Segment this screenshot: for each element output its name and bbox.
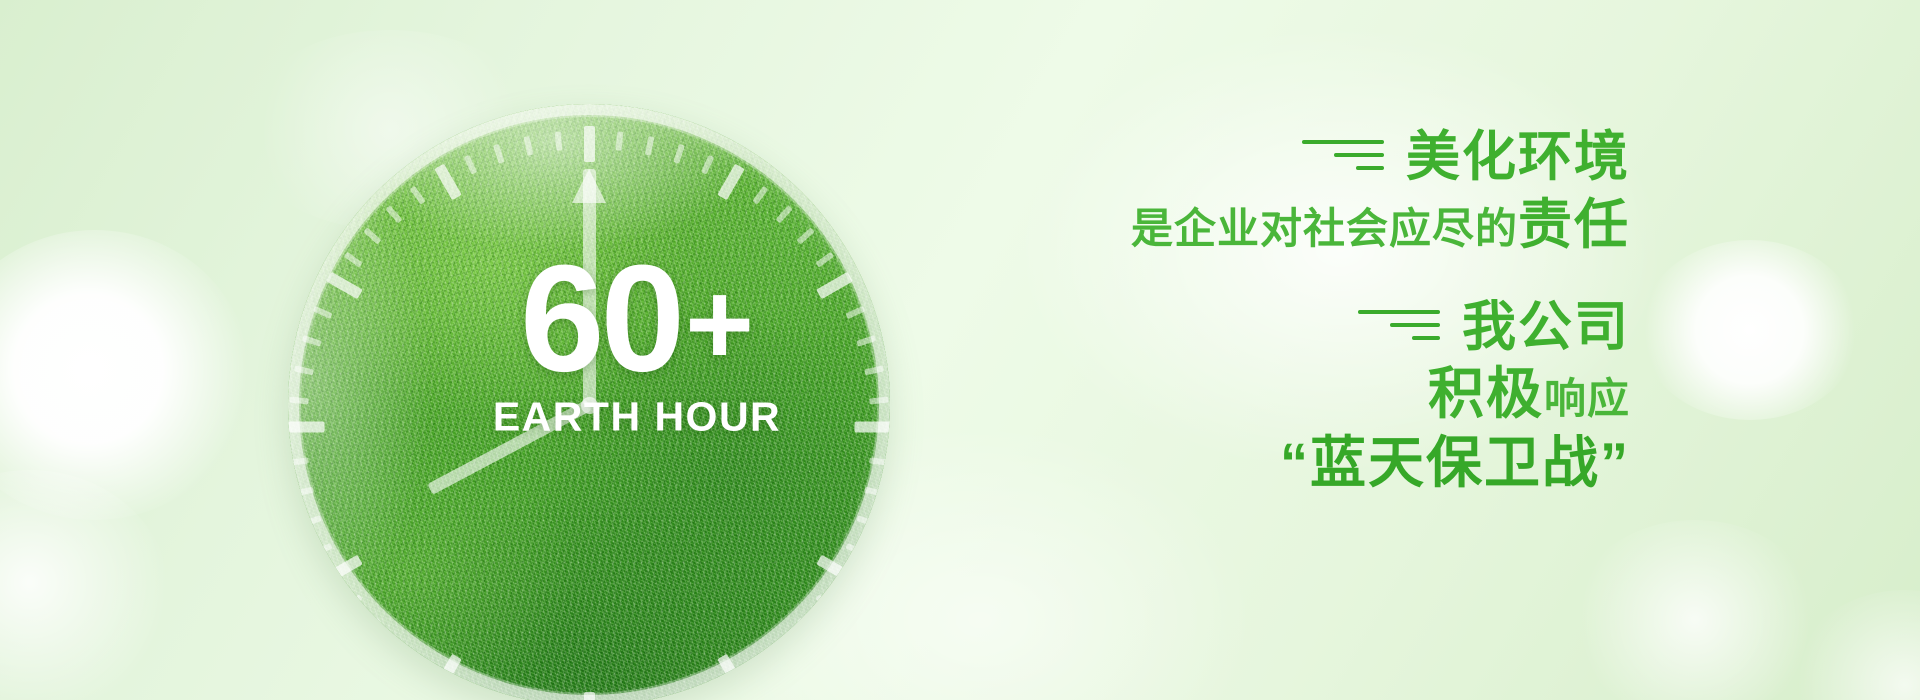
clock-center-cap xyxy=(581,397,598,414)
clock-tick-minor xyxy=(856,335,876,347)
clock-tick-minor xyxy=(294,365,314,375)
bokeh-light-right-lower xyxy=(1570,520,1820,700)
clock-tick-minor xyxy=(752,657,768,676)
clock-tick-major xyxy=(288,422,324,433)
clock-tick-minor xyxy=(615,131,623,151)
subline-emphasis-text: 责任 xyxy=(1518,195,1630,255)
clock-tick-minor xyxy=(797,617,815,634)
clock-tick-minor xyxy=(752,186,768,205)
subline-corporate-responsibility: 是企业对社会应尽的责任 xyxy=(1020,194,1630,256)
clock-tick-major xyxy=(434,654,462,691)
midline-emphasis-text: 积极 xyxy=(1428,362,1544,425)
clock-tick-minor xyxy=(313,306,333,319)
clock-tick-minor xyxy=(344,252,363,268)
dash-decoration-icon-2 xyxy=(1358,310,1440,344)
clock-tick-minor xyxy=(385,639,402,657)
clock-tick-major xyxy=(434,164,462,201)
clock-tick-minor xyxy=(523,136,533,156)
clock-tick-minor xyxy=(302,335,322,347)
clock-tick-minor xyxy=(410,186,426,205)
copy-block-blue-sky: 我公司 积极响应 “蓝天保卫战” xyxy=(1020,300,1630,495)
clock-tick-major xyxy=(816,272,853,300)
clock-tick-minor xyxy=(869,457,889,465)
bokeh-light-left xyxy=(0,230,250,520)
clock-tick-minor xyxy=(645,136,655,156)
clock-tick-minor xyxy=(363,227,381,244)
clock-tick-minor xyxy=(289,397,309,405)
grass-clock-graphic: 60+ EARTH HOUR xyxy=(288,104,890,700)
clock-face xyxy=(288,104,890,700)
midline-active-response: 积极响应 xyxy=(1020,362,1630,426)
clock-tick-minor xyxy=(701,687,714,700)
clock-tick-minor xyxy=(363,617,381,634)
dash-decoration-icon xyxy=(1302,140,1384,174)
bokeh-light-right xyxy=(1640,240,1860,420)
quote-blue-sky-defense: “蓝天保卫战” xyxy=(1020,432,1630,495)
midline-normal-text: 响应 xyxy=(1544,375,1630,422)
bokeh-light-right-corner xyxy=(1790,590,1920,700)
headline-row-one: 美化环境 xyxy=(1020,130,1630,184)
marketing-copy: 美化环境 是企业对社会应尽的责任 我公司 积极响应 “蓝天保卫战” xyxy=(1020,130,1630,495)
clock-tick-minor xyxy=(864,365,884,375)
clock-tick-minor xyxy=(385,205,402,223)
clock-tick-minor xyxy=(775,639,792,657)
headline-row-two: 我公司 xyxy=(1020,300,1630,354)
clock-tick-minor xyxy=(864,487,884,497)
clock-tick-minor xyxy=(797,227,815,244)
clock-tick-minor xyxy=(815,252,834,268)
clock-tick-minor xyxy=(869,397,889,405)
earth-hour-banner: 60+ EARTH HOUR 美化环境 是企业对社会应尽的责任 我公司 积极响应… xyxy=(0,0,1920,700)
clock-tick-minor xyxy=(464,687,477,700)
subline-normal-text: 是企业对社会应尽的 xyxy=(1131,205,1518,252)
clock-tick-minor xyxy=(555,131,563,151)
clock-tick-minor xyxy=(464,155,477,175)
clock-tick-major xyxy=(584,692,595,700)
clock-tick-major xyxy=(326,272,363,300)
bokeh-light-left-lower xyxy=(0,470,170,700)
clock-tick-major xyxy=(816,555,853,583)
clock-tick-major xyxy=(717,164,745,201)
clock-tick-minor xyxy=(845,306,865,319)
clock-tick-minor xyxy=(302,515,322,527)
clock-tick-minor xyxy=(493,144,505,164)
clock-tick-minor xyxy=(701,155,714,175)
clock-tick-major xyxy=(584,126,595,162)
copy-block-environment: 美化环境 是企业对社会应尽的责任 xyxy=(1020,130,1630,256)
clock-tick-minor xyxy=(815,594,834,610)
clock-minute-hand xyxy=(583,169,596,405)
clock-tick-minor xyxy=(845,543,865,556)
clock-tick-minor xyxy=(289,457,309,465)
headline-our-company: 我公司 xyxy=(1462,300,1630,354)
headline-beautify-environment: 美化环境 xyxy=(1406,130,1630,184)
clock-tick-minor xyxy=(775,205,792,223)
clock-tick-minor xyxy=(344,594,363,610)
clock-tick-major xyxy=(326,555,363,583)
clock-tick-major xyxy=(717,654,745,691)
clock-tick-major xyxy=(854,422,890,433)
clock-minute-hand-tip-icon xyxy=(572,169,606,203)
clock-tick-minor xyxy=(313,543,333,556)
clock-tick-minor xyxy=(673,144,685,164)
clock-tick-minor xyxy=(410,657,426,676)
clock-tick-minor xyxy=(856,515,876,527)
clock-tick-minor xyxy=(294,487,314,497)
